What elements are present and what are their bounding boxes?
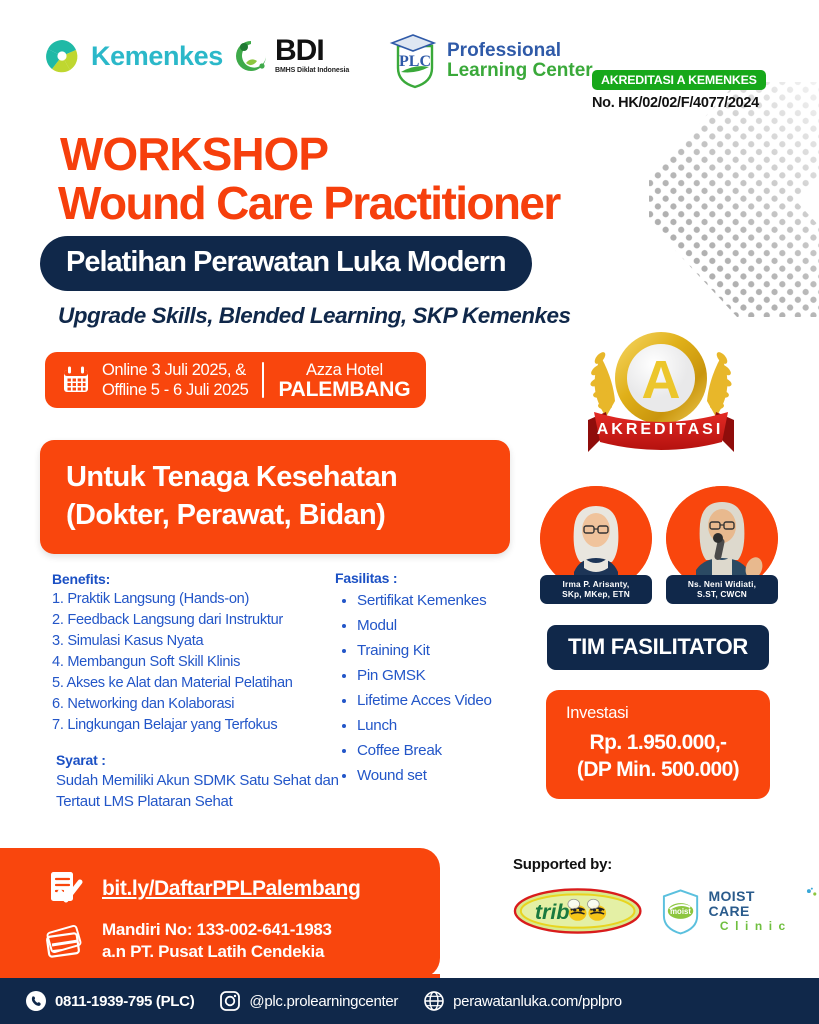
bdi-logo: BDI BMHS Diklat Indonesia — [233, 36, 349, 74]
registration-bank-row: Mandiri No: 133-002-641-1983 a.n PT. Pus… — [44, 919, 440, 963]
plc-shield-icon: PLC — [388, 32, 442, 90]
moist-care-line2: C l i n i c — [708, 919, 798, 934]
audience-line2: (Dokter, Perawat, Bidan) — [66, 496, 484, 534]
globe-icon — [424, 991, 444, 1011]
phone-icon — [26, 991, 46, 1011]
list-item: Pin GMSK — [357, 663, 555, 688]
svg-text:AKREDITASI: AKREDITASI — [597, 421, 724, 438]
facilitator-name-line2: S.ST, CWCN — [669, 589, 775, 599]
tribee-logo: trib — [513, 885, 642, 937]
halftone-decoration — [619, 82, 819, 317]
fasilitas-section: Fasilitas : Sertifikat Kemenkes Modul Tr… — [335, 570, 555, 788]
list-item: Lifetime Acces Video — [357, 688, 555, 713]
footer-instagram[interactable]: @plc.prolearningcenter — [220, 991, 398, 1011]
list-item: 5. Akses ke Alat dan Material Pelatihan — [52, 673, 352, 694]
bdi-mark-icon — [233, 38, 269, 74]
registration-bank: Mandiri No: 133-002-641-1983 a.n PT. Pus… — [102, 919, 332, 963]
supported-by-section: Supported by: trib — [513, 856, 819, 937]
investment-downpayment: (DP Min. 500.000) — [558, 756, 758, 783]
list-item: 1. Praktik Langsung (Hands-on) — [52, 589, 352, 610]
poster-root: Kemenkes BDI BMHS Diklat Indonesia PLC — [0, 0, 819, 1024]
footer-phone[interactable]: 0811-1939-795 (PLC) — [26, 991, 194, 1011]
venue-name: Azza Hotel — [278, 360, 410, 380]
list-item: Training Kit — [357, 638, 555, 663]
form-check-icon — [44, 868, 86, 910]
registration-panel: bit.ly/DaftarPPLPalembang Mandiri No: 13… — [0, 848, 440, 978]
audience-box: Untuk Tenaga Kesehatan (Dokter, Perawat,… — [40, 440, 510, 554]
venue-block: Azza Hotel PALEMBANG — [278, 360, 410, 400]
investment-box: Investasi Rp. 1.950.000,- (DP Min. 500.0… — [546, 690, 770, 799]
header-logos: Kemenkes BDI BMHS Diklat Indonesia PLC — [0, 32, 819, 94]
team-label: TIM FASILITATOR — [547, 625, 769, 670]
plc-label-line2: Learning Center — [447, 61, 593, 81]
list-item: Lunch — [357, 713, 555, 738]
title-subtitle: Upgrade Skills, Blended Learning, SKP Ke… — [58, 303, 571, 329]
investment-label: Investasi — [558, 704, 758, 723]
list-item: 3. Simulasi Kasus Nyata — [52, 631, 352, 652]
footer-website-text: perawatanluka.com/pplpro — [453, 993, 622, 1010]
schedule-bar: Online 3 Juli 2025, & Offline 5 - 6 Juli… — [45, 352, 426, 408]
accreditation-number: No. HK/02/02/F/4077/2024 — [592, 95, 766, 111]
registration-link-row[interactable]: bit.ly/DaftarPPLPalembang — [44, 868, 440, 910]
bdi-label: BDI — [275, 36, 349, 66]
audience-line1: Untuk Tenaga Kesehatan — [66, 458, 484, 496]
accreditation-badge: AKREDITASI A KEMENKES — [592, 70, 766, 90]
footer-bar: 0811-1939-795 (PLC) @plc.prolearningcent… — [0, 978, 819, 1024]
bdi-subtitle: BMHS Diklat Indonesia — [275, 67, 349, 74]
list-item: Coffee Break — [357, 738, 555, 763]
schedule-divider — [262, 362, 264, 398]
accreditation-block: AKREDITASI A KEMENKES No. HK/02/02/F/407… — [592, 70, 766, 111]
facilitator-name-line1: Ns. Neni Widiati, — [669, 579, 775, 589]
list-item: 4. Membangun Soft Skill Klinis — [52, 652, 352, 673]
schedule-date-line2: Offline 5 - 6 Juli 2025 — [102, 380, 248, 400]
facilitator-card: Ns. Neni Widiati, S.ST, CWCN — [666, 486, 778, 604]
bank-account-name: a.n PT. Pusat Latih Cendekia — [102, 941, 332, 963]
schedule-date-line1: Online 3 Juli 2025, & — [102, 360, 248, 380]
instagram-icon — [220, 991, 240, 1011]
kemenkes-label: Kemenkes — [91, 41, 223, 72]
title-kicker: WORKSHOP — [60, 131, 328, 177]
facilitators-photos: Irma P. Arisanty, SKp, MKep, ETN — [540, 486, 778, 604]
benefits-section: Benefits: 1. Praktik Langsung (Hands-on)… — [52, 571, 352, 736]
list-item: 2. Feedback Langsung dari Instruktur — [52, 610, 352, 631]
fasilitas-list: Sertifikat Kemenkes Modul Training Kit P… — [357, 588, 555, 788]
svg-text:trib: trib — [535, 899, 570, 924]
supported-by-label: Supported by: — [513, 856, 819, 873]
moist-care-clinic-logo: moist MOIST CARE C l i n i c — [660, 887, 819, 935]
svg-text:moist: moist — [670, 907, 691, 916]
footer-phone-text: 0811-1939-795 (PLC) — [55, 993, 194, 1010]
syarat-section: Syarat : Sudah Memiliki Akun SDMK Satu S… — [56, 752, 356, 812]
facilitator-name: Irma P. Arisanty, SKp, MKep, ETN — [540, 575, 652, 604]
fasilitas-heading: Fasilitas : — [335, 570, 555, 586]
list-item: 6. Networking dan Kolaborasi — [52, 694, 352, 715]
syarat-body: Sudah Memiliki Akun SDMK Satu Sehat dan … — [56, 770, 356, 812]
facilitator-name-line2: SKp, MKep, ETN — [543, 589, 649, 599]
svg-text:PLC: PLC — [399, 53, 431, 70]
list-item: 7. Lingkungan Belajar yang Terfokus — [52, 715, 352, 736]
sponsor-logos: trib — [513, 885, 819, 937]
investment-price: Rp. 1.950.000,- — [558, 729, 758, 756]
title-badge: Pelatihan Perawatan Luka Modern — [40, 236, 532, 291]
footer-instagram-text: @plc.prolearningcenter — [249, 993, 398, 1010]
footer-website[interactable]: perawatanluka.com/pplpro — [424, 991, 622, 1011]
facilitator-name-line1: Irma P. Arisanty, — [543, 579, 649, 589]
svg-text:A: A — [642, 350, 681, 410]
moist-care-line1: MOIST CARE — [708, 889, 798, 919]
calendar-icon — [61, 365, 91, 395]
investment-amount: Rp. 1.950.000,- (DP Min. 500.000) — [558, 729, 758, 783]
facilitator-name: Ns. Neni Widiati, S.ST, CWCN — [666, 575, 778, 604]
moist-shield-icon: moist — [660, 887, 701, 935]
kemenkes-logo: Kemenkes — [42, 36, 223, 76]
venue-city: PALEMBANG — [278, 380, 410, 400]
list-item: Modul — [357, 613, 555, 638]
sparkle-icon — [805, 887, 819, 901]
benefits-heading: Benefits: — [52, 571, 352, 587]
list-item: Sertifikat Kemenkes — [357, 588, 555, 613]
facilitator-card: Irma P. Arisanty, SKp, MKep, ETN — [540, 486, 652, 604]
plc-label-line1: Professional — [447, 41, 593, 61]
page-title: Wound Care Practitioner — [58, 179, 560, 227]
accreditation-seal-icon: A AKREDITASI — [556, 322, 766, 467]
benefits-list: 1. Praktik Langsung (Hands-on) 2. Feedba… — [52, 589, 352, 736]
list-item: Wound set — [357, 763, 555, 788]
registration-link[interactable]: bit.ly/DaftarPPLPalembang — [102, 877, 360, 901]
syarat-heading: Syarat : — [56, 752, 356, 768]
bank-account-number: Mandiri No: 133-002-641-1983 — [102, 919, 332, 941]
schedule-dates: Online 3 Juli 2025, & Offline 5 - 6 Juli… — [102, 360, 248, 400]
kemenkes-mark-icon — [42, 36, 82, 76]
credit-card-icon — [44, 919, 86, 961]
plc-logo: PLC Professional Learning Center — [388, 32, 593, 90]
